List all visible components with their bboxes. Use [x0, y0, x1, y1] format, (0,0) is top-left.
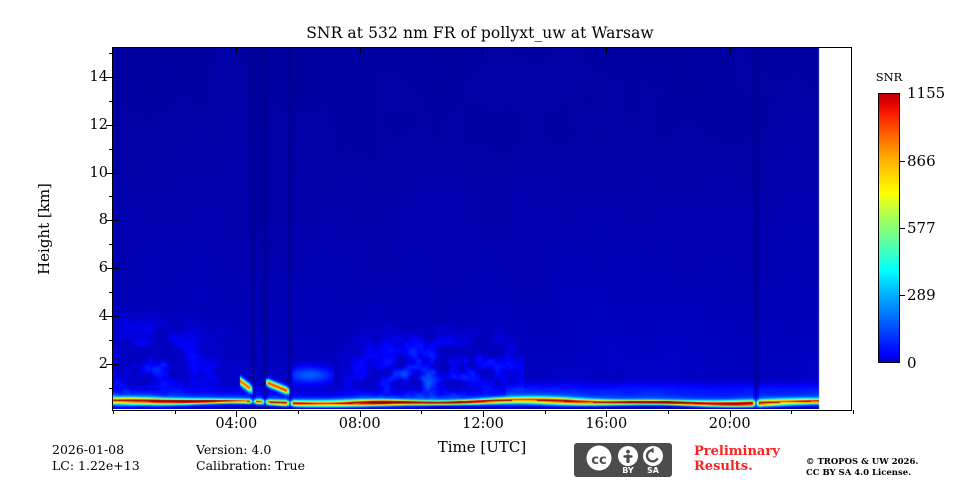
preliminary-results-note: Preliminary Results.	[694, 444, 780, 474]
lidar-quicklook-figure: SNR at 532 nm FR of pollyxt_uw at Warsaw…	[0, 0, 960, 480]
preliminary-line-1: Preliminary	[694, 444, 780, 459]
y-tick-label: 14	[90, 69, 108, 85]
x-minor-tick	[668, 410, 669, 414]
x-minor-tick	[113, 410, 114, 414]
colorbar-tick-label: 577	[907, 219, 936, 237]
y-minor-tick	[109, 101, 113, 102]
y-tick-label: 2	[99, 356, 108, 372]
x-tick-mark-top	[730, 48, 731, 54]
footer-version: Version: 4.0	[196, 442, 271, 457]
snr-heatmap	[113, 48, 837, 409]
y-tick-label: 4	[99, 308, 108, 324]
x-minor-tick	[298, 410, 299, 414]
y-tick-mark-inner	[113, 268, 119, 269]
colorbar-tick-label: 866	[907, 152, 936, 170]
copyright-note: © TROPOS & UW 2026. CC BY SA 4.0 License…	[806, 457, 918, 479]
footer-date: 2026-01-08	[52, 442, 124, 457]
svg-text:SA: SA	[647, 466, 660, 475]
y-tick-mark-inner	[113, 173, 119, 174]
x-tick-label: 16:00	[585, 416, 627, 432]
preliminary-line-2: Results.	[694, 459, 780, 474]
x-tick-label: 08:00	[339, 416, 381, 432]
y-minor-tick	[109, 292, 113, 293]
colorbar-title: SNR	[876, 70, 903, 84]
x-tick-label: 12:00	[462, 416, 504, 432]
footer-calibration: Calibration: True	[196, 458, 305, 473]
y-tick-label: 6	[99, 260, 108, 276]
colorbar-tick-mark	[900, 228, 905, 229]
x-tick-mark-top	[606, 48, 607, 54]
x-minor-tick	[421, 410, 422, 414]
y-tick-mark-inner	[113, 125, 119, 126]
cc-by-sa-icon: cc BY SA	[574, 443, 672, 477]
x-minor-tick	[853, 410, 854, 414]
colorbar-tick-label: 1155	[907, 84, 945, 102]
y-tick-mark-inner	[113, 364, 119, 365]
svg-text:cc: cc	[591, 453, 606, 468]
y-tick-mark-inner	[113, 220, 119, 221]
y-minor-tick	[109, 244, 113, 245]
x-tick-mark-top	[483, 48, 484, 54]
colorbar-gradient	[878, 93, 900, 363]
y-minor-tick	[109, 340, 113, 341]
x-tick-label: 20:00	[709, 416, 751, 432]
y-minor-tick	[109, 149, 113, 150]
colorbar: SNR 11558665772890	[878, 93, 900, 363]
x-axis-title: Time [UTC]	[438, 438, 527, 456]
y-minor-tick	[109, 53, 113, 54]
svg-text:BY: BY	[622, 466, 634, 475]
x-tick-mark-top	[236, 48, 237, 54]
colorbar-tick-label: 289	[907, 286, 936, 304]
y-tick-label: 8	[99, 212, 108, 228]
x-minor-tick	[791, 410, 792, 414]
copyright-line-1: © TROPOS & UW 2026.	[806, 457, 918, 468]
y-tick-mark-inner	[113, 77, 119, 78]
colorbar-tick-mark	[900, 295, 905, 296]
y-tick-label: 12	[90, 117, 108, 133]
colorbar-tick-label: 0	[907, 354, 917, 372]
x-tick-label: 04:00	[215, 416, 257, 432]
y-minor-tick	[109, 388, 113, 389]
page-title: SNR at 532 nm FR of pollyxt_uw at Warsaw	[0, 24, 960, 42]
x-tick-mark-top	[360, 48, 361, 54]
cc-license-badge: cc BY SA	[574, 443, 672, 477]
y-minor-tick	[109, 196, 113, 197]
footer-lidar-constant: LC: 1.22e+13	[52, 458, 140, 473]
x-minor-tick	[175, 410, 176, 414]
x-minor-tick	[545, 410, 546, 414]
y-tick-mark-inner	[113, 316, 119, 317]
colorbar-tick-mark	[900, 161, 905, 162]
y-axis-title: Height [km]	[35, 183, 53, 275]
plot-axes: 141210864204:0008:0012:0016:0020:00	[112, 47, 852, 411]
copyright-line-2: CC BY SA 4.0 License.	[806, 468, 918, 479]
y-tick-label: 10	[90, 165, 108, 181]
